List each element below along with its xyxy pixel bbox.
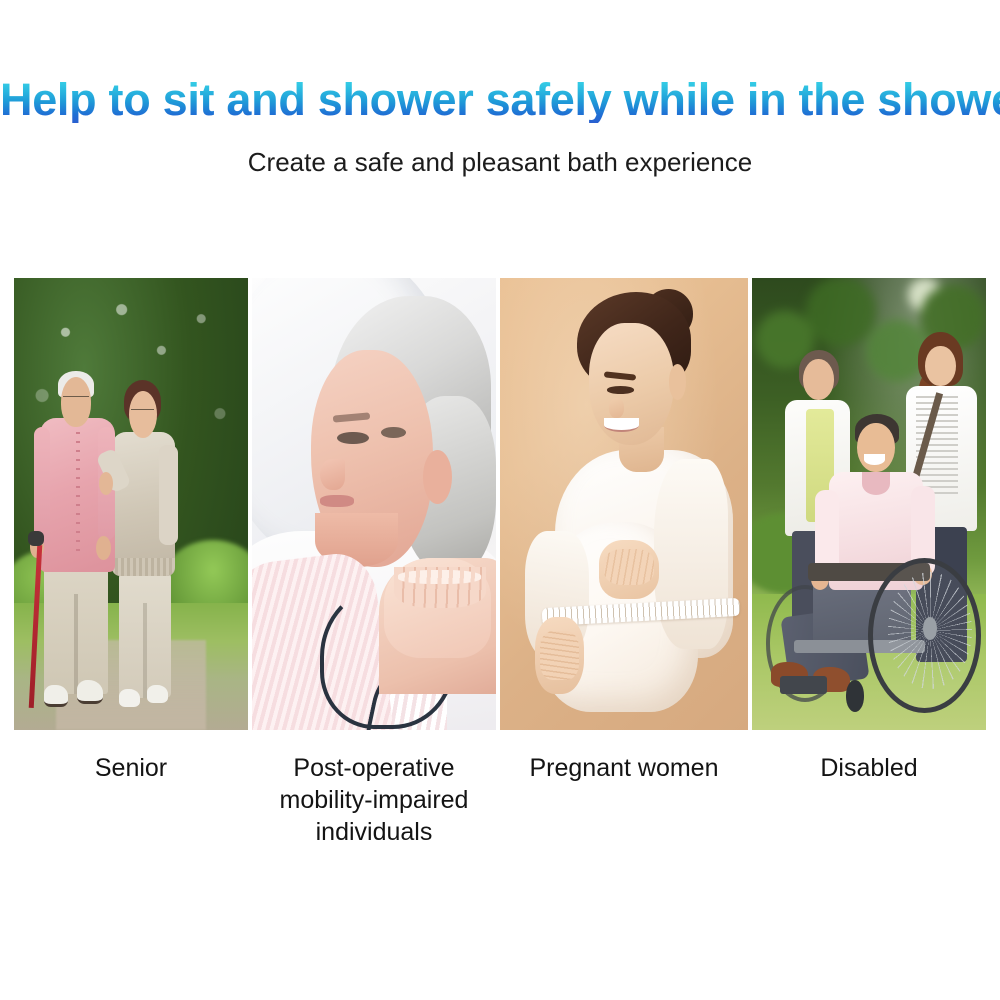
wheelchair-caster — [846, 680, 865, 712]
page-title: Help to sit and shower safely while in t… — [0, 76, 1000, 123]
man-glasses — [63, 396, 89, 407]
caregiver1-head — [803, 359, 833, 400]
woman-top-hem — [112, 558, 175, 576]
woman-shoe-right — [147, 685, 168, 703]
caption-post-operative: Post-operative mobility-impaired individ… — [252, 752, 496, 848]
caption-pregnant: Pregnant women — [500, 752, 748, 848]
scene-wheelchair-park — [752, 278, 986, 730]
photo-pregnant — [500, 278, 748, 730]
man-shirt-buttons — [76, 432, 80, 559]
man-leg-gap — [74, 594, 79, 693]
man-shoe-left — [44, 685, 67, 707]
patient-eye-right — [381, 427, 405, 438]
photo-strip — [14, 278, 986, 730]
fingers-upper — [604, 549, 654, 585]
caption-disabled: Disabled — [752, 752, 986, 848]
eye — [607, 386, 634, 393]
photo-senior — [14, 278, 248, 730]
man-collar — [862, 472, 890, 495]
woman-arm-right — [159, 445, 178, 544]
scene-hospital-bed — [252, 278, 496, 730]
scene-elderly-couple-park — [14, 278, 248, 730]
fingers-lower — [540, 631, 580, 681]
cane-handle — [28, 531, 44, 546]
ear — [669, 364, 686, 400]
photo-disabled — [752, 278, 986, 730]
woman-leg-gap — [143, 603, 147, 698]
man-arm-left — [34, 427, 50, 545]
arm-right-sleeve — [654, 459, 728, 649]
nose — [609, 398, 624, 418]
scene-pregnant-woman — [500, 278, 748, 730]
caption-senior: Senior — [14, 752, 248, 848]
promo-banner: Help to sit and shower safely while in t… — [0, 0, 1000, 1000]
woman-glasses — [131, 409, 154, 419]
patient-ear — [423, 450, 452, 504]
smile — [604, 418, 639, 432]
wheelchair-footplate — [780, 676, 827, 694]
caregiver2-head — [925, 346, 955, 387]
photo-post-operative — [252, 278, 496, 730]
page-subtitle: Create a safe and pleasant bath experien… — [0, 147, 1000, 178]
wheelchair-hub — [923, 617, 937, 640]
caregiver-fingernails — [398, 570, 481, 584]
patient-nose — [320, 459, 344, 491]
woman-shoe-left — [119, 689, 140, 707]
patient-lips — [320, 495, 354, 507]
man-shoe-right — [77, 680, 103, 703]
caption-row: Senior Post-operative mobility-impaired … — [14, 752, 986, 848]
